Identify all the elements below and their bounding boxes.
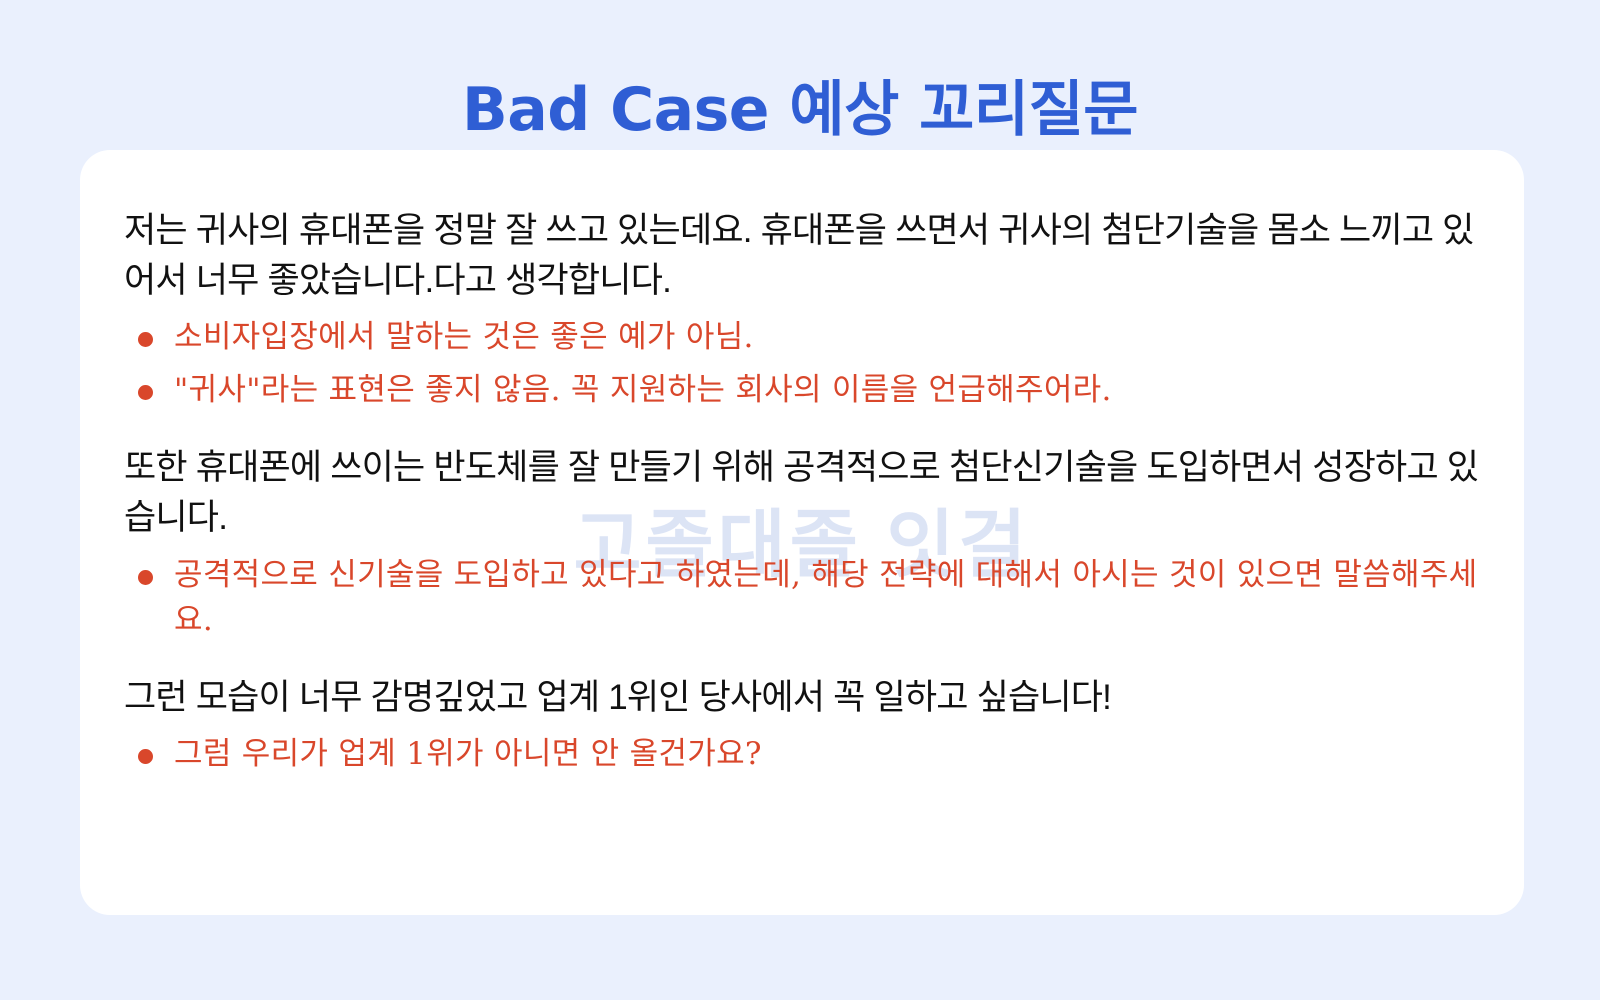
content-body: 저는 귀사의 휴대폰을 정말 잘 쓰고 있는데요. 휴대폰을 쓰면서 귀사의 첨…: [124, 206, 1480, 777]
content-block-3: 그런 모습이 너무 감명깊었고 업계 1위인 당사에서 꼭 일하고 싶습니다! …: [124, 673, 1480, 778]
bullet-dot-icon: [138, 332, 153, 347]
note-list-3: 그럼 우리가 업계 1위가 아니면 안 올건가요?: [124, 732, 1480, 777]
content-card: 고졸대졸 잇걸 저는 귀사의 휴대폰을 정말 잘 쓰고 있는데요. 휴대폰을 쓰…: [80, 150, 1524, 915]
paragraph-2: 또한 휴대폰에 쓰이는 반도체를 잘 만들기 위해 공격적으로 첨단신기술을 도…: [124, 443, 1480, 542]
note-text: 소비자입장에서 말하는 것은 좋은 예가 아님.: [174, 319, 754, 355]
note-item: 공격적으로 신기술을 도입하고 있다고 하였는데, 해당 전략에 대해서 아시는…: [124, 553, 1480, 643]
paragraph-3: 그런 모습이 너무 감명깊었고 업계 1위인 당사에서 꼭 일하고 싶습니다!: [124, 673, 1480, 723]
note-item: 소비자입장에서 말하는 것은 좋은 예가 아님.: [124, 315, 1480, 360]
note-item: 그럼 우리가 업계 1위가 아니면 안 올건가요?: [124, 732, 1480, 777]
slide-root: Bad Case 예상 꼬리질문 고졸대졸 잇걸 저는 귀사의 휴대폰을 정말 …: [0, 0, 1600, 1000]
content-block-1: 저는 귀사의 휴대폰을 정말 잘 쓰고 있는데요. 휴대폰을 쓰면서 귀사의 첨…: [124, 206, 1480, 413]
note-list-1: 소비자입장에서 말하는 것은 좋은 예가 아님. "귀사"라는 표현은 좋지 않…: [124, 315, 1480, 413]
note-list-2: 공격적으로 신기술을 도입하고 있다고 하였는데, 해당 전략에 대해서 아시는…: [124, 553, 1480, 643]
note-text: 공격적으로 신기술을 도입하고 있다고 하였는데, 해당 전략에 대해서 아시는…: [174, 557, 1477, 638]
content-block-2: 또한 휴대폰에 쓰이는 반도체를 잘 만들기 위해 공격적으로 첨단신기술을 도…: [124, 443, 1480, 642]
bullet-dot-icon: [138, 749, 153, 764]
bullet-dot-icon: [138, 385, 153, 400]
page-title: Bad Case 예상 꼬리질문: [0, 76, 1600, 145]
note-item: "귀사"라는 표현은 좋지 않음. 꼭 지원하는 회사의 이름을 언급해주어라.: [124, 368, 1480, 413]
bullet-dot-icon: [138, 570, 153, 585]
note-text: "귀사"라는 표현은 좋지 않음. 꼭 지원하는 회사의 이름을 언급해주어라.: [174, 372, 1112, 408]
paragraph-1: 저는 귀사의 휴대폰을 정말 잘 쓰고 있는데요. 휴대폰을 쓰면서 귀사의 첨…: [124, 206, 1480, 305]
note-text: 그럼 우리가 업계 1위가 아니면 안 올건가요?: [174, 736, 762, 772]
